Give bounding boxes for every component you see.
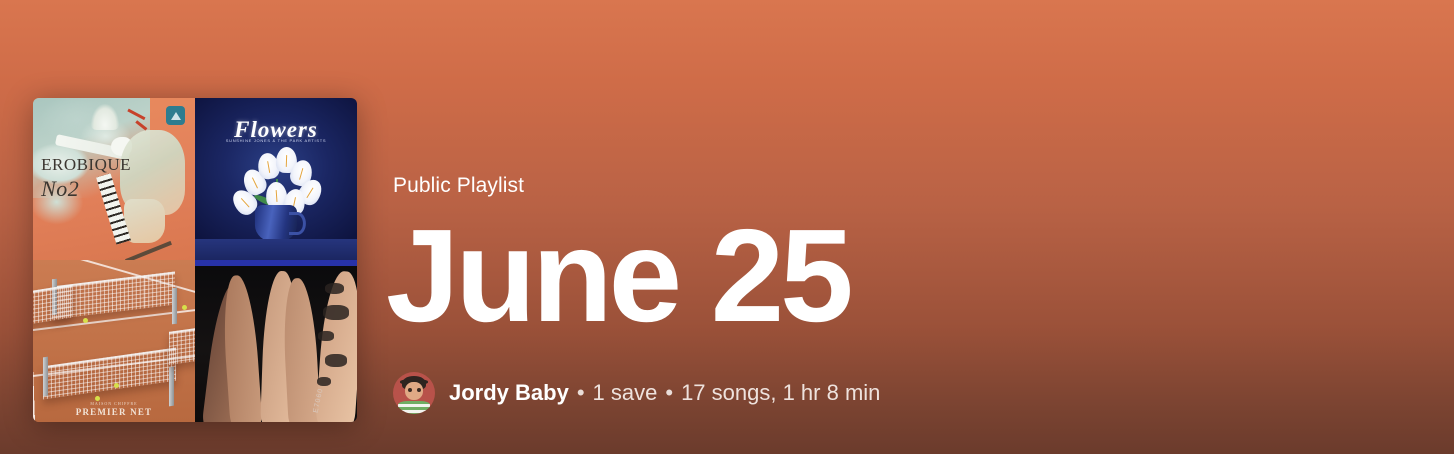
tattoo [325, 354, 348, 367]
tattoo [325, 283, 344, 294]
playlist-meta: Public Playlist June 25 Jordy Baby • 1 s… [357, 175, 1454, 422]
tennis-net [169, 324, 195, 365]
playlist-cover-collage[interactable]: EROBIQUE No2 Flowers SUNSHINE JONES & TH… [33, 98, 357, 422]
cover-tile-legs-photo: E7060 [195, 260, 357, 422]
premier-net-brand: MAISON CHIFFRE PREMIER NET [33, 401, 195, 417]
premier-net-title: PREMIER NET [76, 407, 152, 417]
flower-vase [255, 205, 297, 242]
avatar-eye-left [408, 388, 412, 392]
cover-tile-flowers: Flowers SUNSHINE JONES & THE PARK ARTIST… [195, 98, 357, 260]
avatar-eye-right [417, 388, 421, 392]
erobique-label-logo-icon [166, 106, 185, 125]
playlist-byline: Jordy Baby • 1 save • 17 songs, 1 hr 8 m… [393, 372, 1454, 414]
net-post [43, 357, 48, 397]
playlist-hero: EROBIQUE No2 Flowers SUNSHINE JONES & TH… [0, 0, 1454, 454]
playlist-visibility-label: Public Playlist [393, 175, 1454, 196]
owner-avatar[interactable] [393, 372, 435, 414]
owner-name[interactable]: Jordy Baby [449, 382, 569, 404]
tattoo [318, 331, 334, 341]
byline-separator-2: • [665, 382, 673, 404]
byline-separator: • [577, 382, 585, 404]
flowers-subtitle: SUNSHINE JONES & THE PARK ARTISTS [195, 138, 357, 143]
erobique-title-main: EROBIQUE [41, 155, 131, 174]
cover-tile-premier-net: MAISON CHIFFRE PREMIER NET [33, 260, 195, 422]
net-post [172, 287, 177, 323]
erobique-title-sub: No2 [41, 177, 131, 201]
song-count-and-duration: 17 songs, 1 hr 8 min [681, 382, 880, 404]
tattoo [317, 377, 332, 387]
premier-net-sub: MAISON CHIFFRE [33, 401, 195, 406]
save-count: 1 save [593, 382, 658, 404]
avatar-striped-shirt [398, 401, 430, 414]
legs-photo-blue-band [195, 260, 357, 266]
tattoo [323, 305, 349, 320]
playlist-title: June 25 [386, 214, 1454, 338]
erobique-leg [125, 241, 172, 260]
erobique-plume [91, 104, 119, 130]
flowers-tablecloth [195, 239, 357, 260]
cover-tile-erobique: EROBIQUE No2 [33, 98, 195, 260]
erobique-title: EROBIQUE No2 [41, 156, 131, 201]
